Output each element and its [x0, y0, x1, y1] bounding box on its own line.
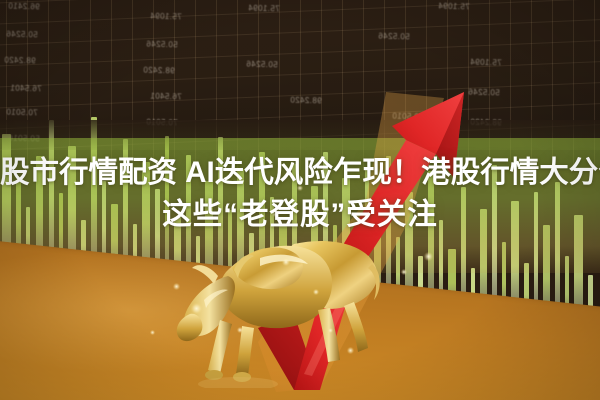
chart-bar [2, 134, 11, 256]
chart-bar [323, 152, 328, 296]
chart-bar [91, 117, 97, 267]
news-banner: 96.241050.524698.242076.540170.501050.50… [0, 0, 600, 400]
chart-bar [123, 139, 128, 271]
chart-bar [259, 152, 265, 288]
chart-bar [49, 120, 54, 262]
chart-bar [68, 146, 76, 264]
chart-bar [218, 137, 223, 283]
chart-bar [386, 156, 391, 304]
chart-bar [186, 155, 191, 279]
chart-bar [165, 136, 169, 276]
